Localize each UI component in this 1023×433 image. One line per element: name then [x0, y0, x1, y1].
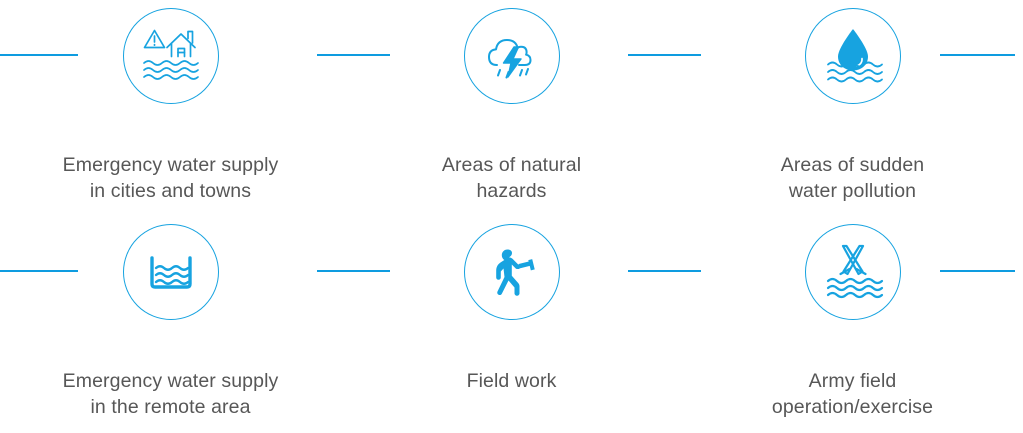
feature-item-army-field-operation[interactable]: Army field operation/exercise — [682, 216, 1023, 432]
feature-label: Army field operation/exercise — [772, 368, 933, 420]
feature-item-natural-hazards[interactable]: Areas of natural hazards — [341, 0, 682, 216]
field-worker-icon — [481, 241, 543, 303]
water-droplet-waves-icon — [822, 25, 884, 87]
water-tank-icon — [140, 241, 202, 303]
storm-cloud-lightning-rain-icon — [481, 25, 543, 87]
icon-badge[interactable] — [123, 224, 219, 320]
crossed-swords-waves-icon — [822, 241, 884, 303]
icon-badge[interactable] — [464, 224, 560, 320]
icon-feature-grid: Emergency water supply in cities and tow… — [0, 0, 1023, 433]
feature-label: Areas of sudden water pollution — [781, 152, 925, 204]
feature-item-emergency-water-remote[interactable]: Emergency water supply in the remote are… — [0, 216, 341, 432]
feature-label: Areas of natural hazards — [442, 152, 581, 204]
feature-item-emergency-water-cities[interactable]: Emergency water supply in cities and tow… — [0, 0, 341, 216]
icon-badge[interactable] — [464, 8, 560, 104]
feature-label: Emergency water supply in cities and tow… — [63, 152, 279, 204]
icon-badge[interactable] — [805, 224, 901, 320]
feature-label: Emergency water supply in the remote are… — [63, 368, 279, 420]
icon-badge[interactable] — [123, 8, 219, 104]
feature-item-field-work[interactable]: Field work — [341, 216, 682, 432]
icon-badge[interactable] — [805, 8, 901, 104]
feature-row-top: Emergency water supply in cities and tow… — [0, 0, 1023, 216]
flooded-house-warning-icon — [140, 25, 202, 87]
feature-row-bottom: Emergency water supply in the remote are… — [0, 216, 1023, 432]
feature-item-water-pollution[interactable]: Areas of sudden water pollution — [682, 0, 1023, 216]
feature-label: Field work — [467, 368, 557, 394]
